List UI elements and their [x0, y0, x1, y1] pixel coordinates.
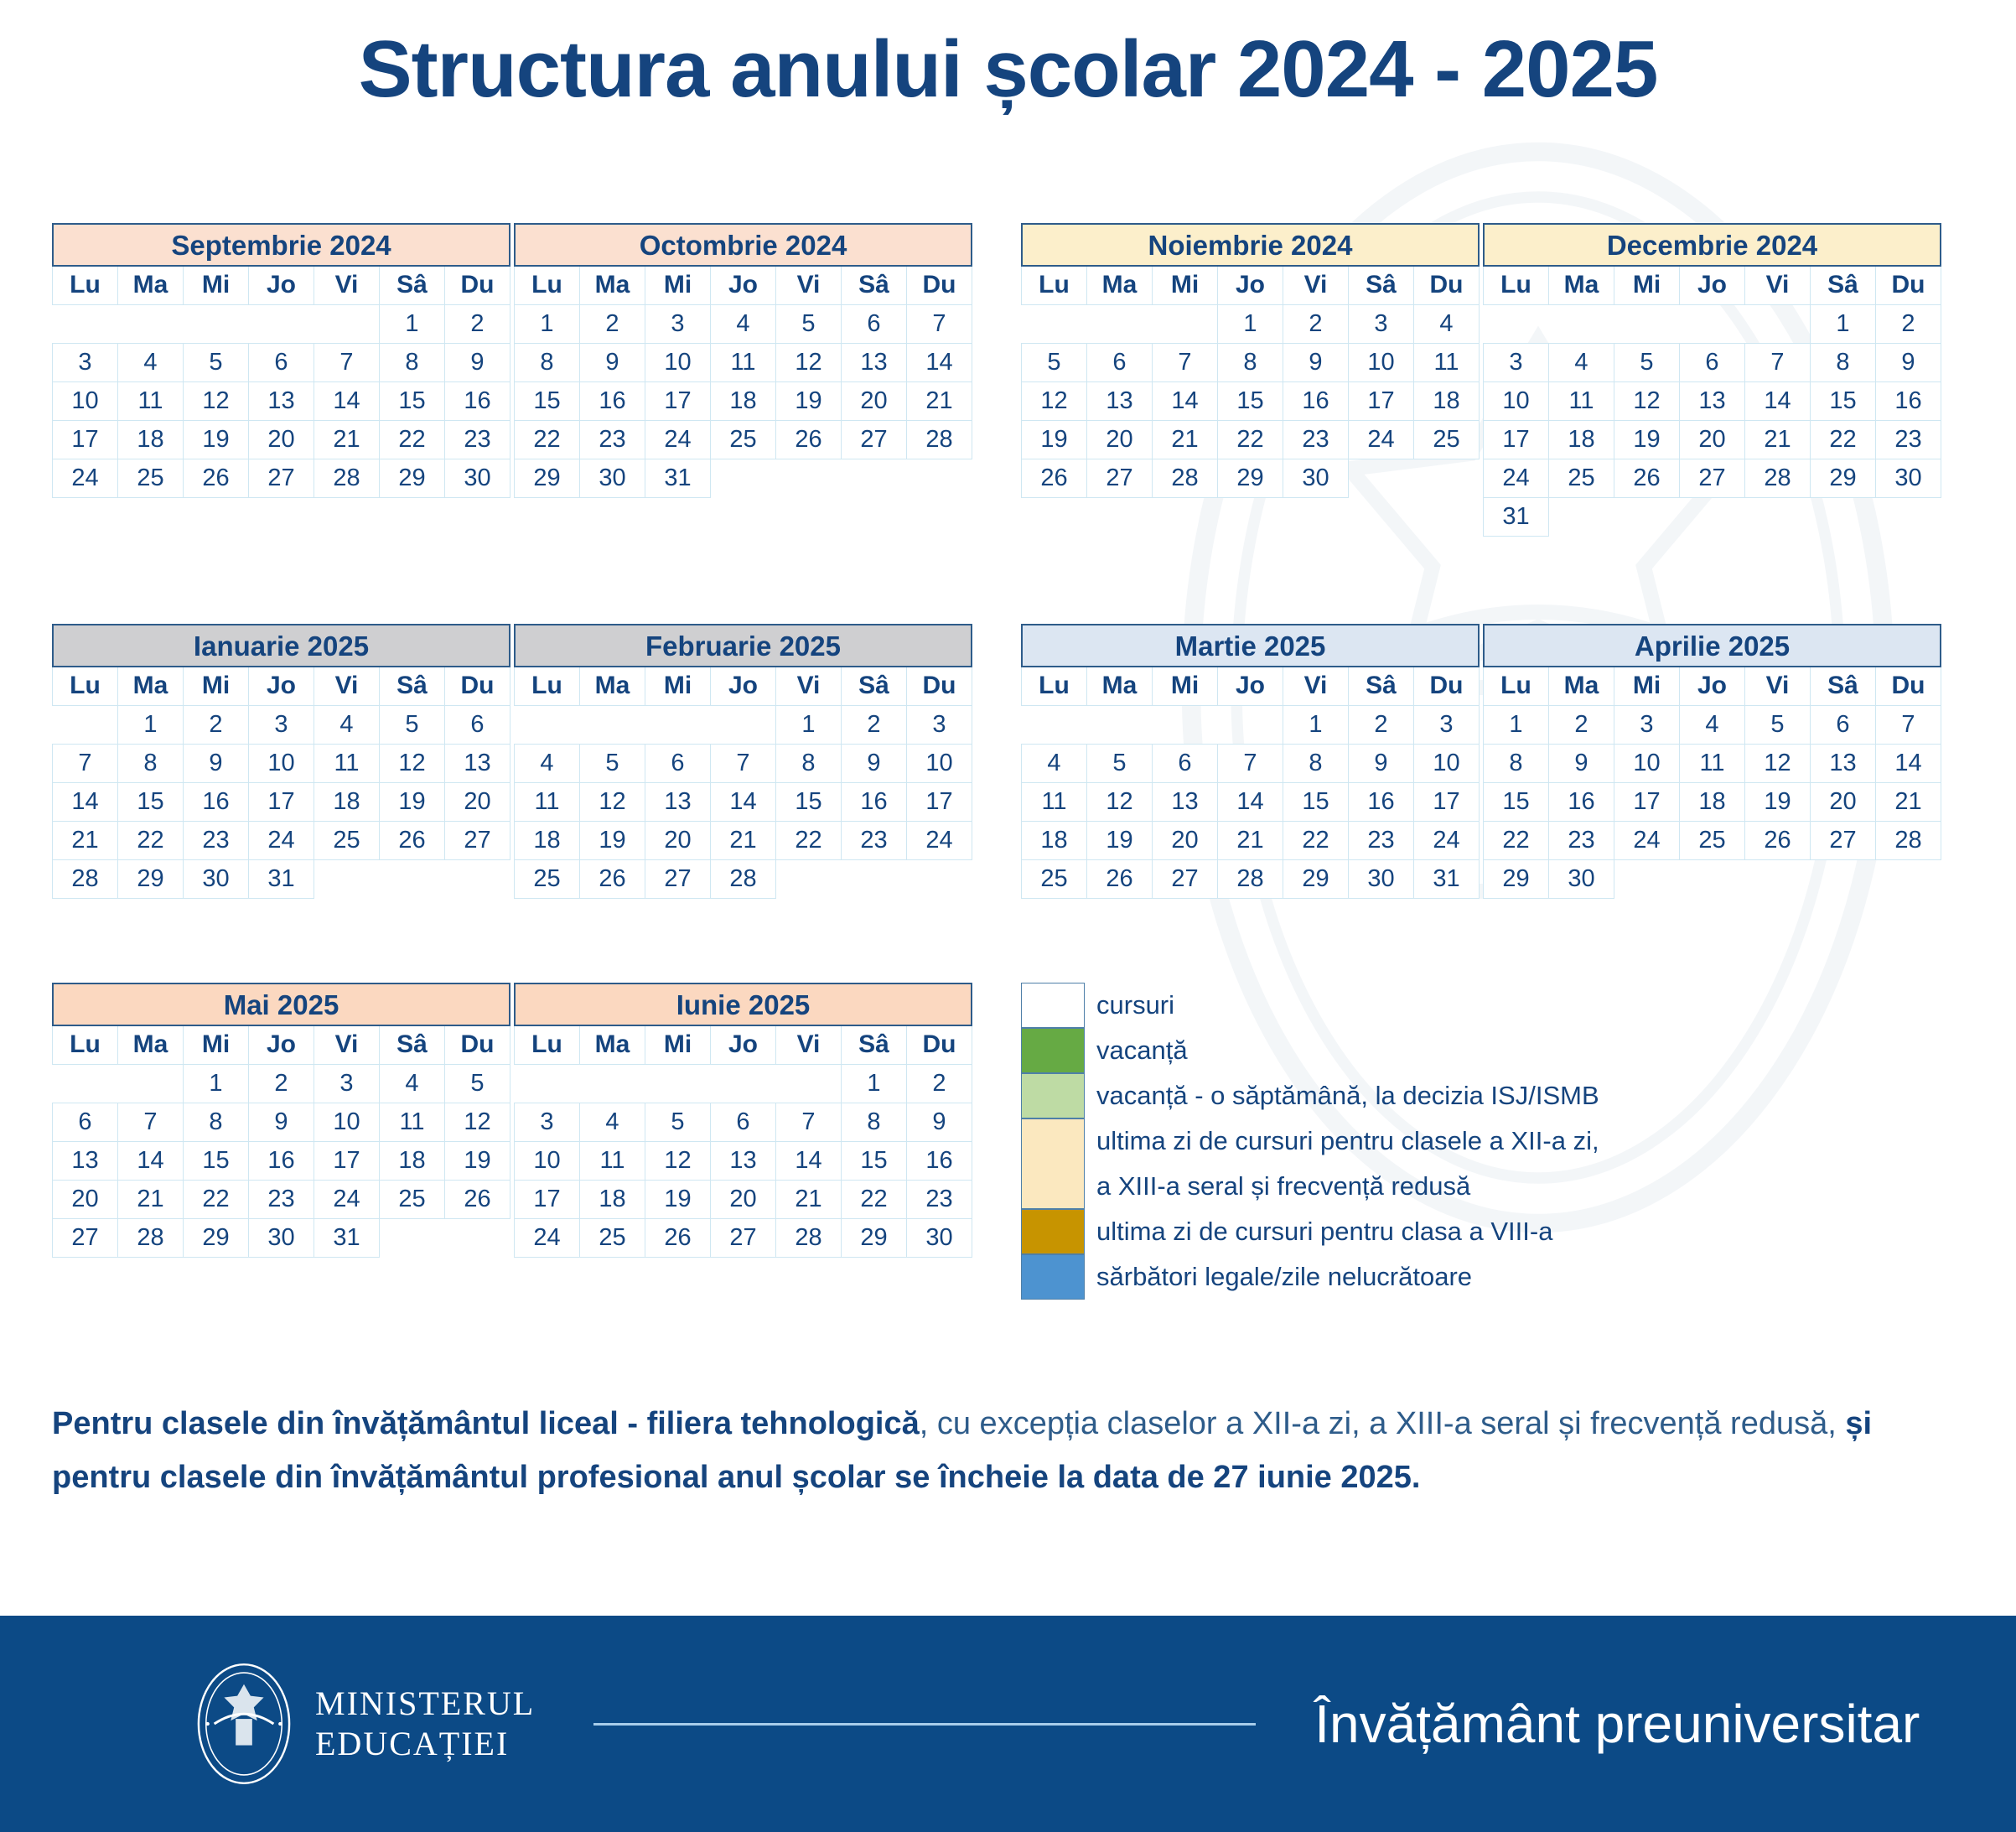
empty-cell — [184, 304, 249, 343]
day-cell: 29 — [1283, 859, 1349, 898]
day-cell: 7 — [1153, 343, 1218, 381]
weekday-header-vi: Vi — [1745, 667, 1811, 705]
empty-cell — [53, 304, 118, 343]
day-cell: 28 — [53, 859, 118, 898]
calendar-pair-nov-dec: Noiembrie 2024 LuMaMiJoViSâDu12345678910… — [1021, 223, 1941, 537]
ministry-line-1: MINISTERUL — [315, 1684, 535, 1724]
day-cell: 18 — [1414, 381, 1480, 420]
empty-cell — [1745, 859, 1811, 898]
day-cell: 15 — [515, 381, 580, 420]
month-title-7: Aprilie 2025 — [1483, 624, 1941, 666]
day-cell: 5 — [580, 744, 645, 782]
day-cell: 4 — [1414, 304, 1480, 343]
day-cell: 6 — [711, 1103, 776, 1141]
day-cell: 4 — [380, 1064, 445, 1103]
day-cell: 11 — [314, 744, 380, 782]
day-cell: 31 — [1414, 859, 1480, 898]
day-cell: 11 — [1022, 782, 1087, 821]
day-cell: 18 — [711, 381, 776, 420]
month-grid-2: LuMaMiJoViSâDu12345678910111213141516171… — [1021, 265, 1480, 498]
day-cell: 23 — [445, 420, 510, 459]
day-cell: 21 — [776, 1180, 842, 1218]
day-cell: 18 — [314, 782, 380, 821]
day-cell: 17 — [907, 782, 972, 821]
day-cell: 2 — [249, 1064, 314, 1103]
day-cell: 3 — [1349, 304, 1414, 343]
day-cell: 23 — [1283, 420, 1349, 459]
day-cell: 20 — [711, 1180, 776, 1218]
day-cell: 1 — [842, 1064, 907, 1103]
day-cell: 24 — [1484, 459, 1549, 497]
week-row: 24252627282930 — [1484, 459, 1941, 497]
legend-row-vac: vacanță — [1021, 1028, 1826, 1073]
weekday-header-mi: Mi — [645, 1025, 711, 1064]
day-cell: 25 — [118, 459, 184, 497]
weekday-header-jo: Jo — [1218, 266, 1283, 304]
weekday-header-sâ: Sâ — [842, 1025, 907, 1064]
calendar-pair-mar-apr: Martie 2025 LuMaMiJoViSâDu12345678910111… — [1021, 624, 1941, 899]
legend-swatch-course — [1021, 983, 1085, 1028]
day-cell: 20 — [1680, 420, 1745, 459]
weekday-header-row: LuMaMiJoViSâDu — [1484, 266, 1941, 304]
day-cell: 30 — [1283, 459, 1349, 497]
day-cell: 8 — [515, 343, 580, 381]
day-cell: 12 — [1022, 381, 1087, 420]
empty-cell — [1087, 705, 1153, 744]
week-row: 19202122232425 — [1022, 420, 1480, 459]
day-cell: 13 — [1087, 381, 1153, 420]
day-cell: 6 — [1811, 705, 1876, 744]
day-cell: 19 — [380, 782, 445, 821]
day-cell: 3 — [515, 1103, 580, 1141]
week-row: 891011121314 — [515, 343, 972, 381]
day-cell: 18 — [580, 1180, 645, 1218]
weekday-header-jo: Jo — [1218, 667, 1283, 705]
day-cell: 12 — [1087, 782, 1153, 821]
day-cell: 21 — [1218, 821, 1283, 859]
day-cell: 4 — [1549, 343, 1614, 381]
weekday-header-row: LuMaMiJoViSâDu — [1022, 667, 1480, 705]
empty-cell — [118, 1064, 184, 1103]
day-cell: 24 — [515, 1218, 580, 1257]
day-cell: 2 — [1283, 304, 1349, 343]
empty-cell — [1745, 497, 1811, 536]
empty-cell — [1876, 497, 1941, 536]
empty-cell — [1614, 304, 1680, 343]
day-cell: 31 — [645, 459, 711, 497]
day-cell: 15 — [1811, 381, 1876, 420]
empty-cell — [445, 859, 510, 898]
day-cell: 11 — [1680, 744, 1745, 782]
empty-cell — [1811, 497, 1876, 536]
day-cell: 25 — [1022, 859, 1087, 898]
empty-cell — [1484, 304, 1549, 343]
day-cell: 21 — [711, 821, 776, 859]
empty-cell — [1414, 459, 1480, 497]
day-cell: 7 — [907, 304, 972, 343]
day-cell: 27 — [1811, 821, 1876, 859]
day-cell: 2 — [1349, 705, 1414, 744]
empty-cell — [1218, 705, 1283, 744]
legend-label-holiday: sărbători legale/zile nelucrătoare — [1096, 1254, 1472, 1300]
weekday-header-jo: Jo — [711, 1025, 776, 1064]
weekday-header-row: LuMaMiJoViSâDu — [515, 1025, 972, 1064]
day-cell: 7 — [53, 744, 118, 782]
day-cell: 20 — [842, 381, 907, 420]
weekday-header-ma: Ma — [580, 266, 645, 304]
weekday-header-du: Du — [445, 266, 510, 304]
day-cell: 30 — [249, 1218, 314, 1257]
week-row: 17181920212223 — [1484, 420, 1941, 459]
weekday-header-jo: Jo — [711, 266, 776, 304]
day-cell: 12 — [184, 381, 249, 420]
day-cell: 21 — [118, 1180, 184, 1218]
month-title-3: Decembrie 2024 — [1483, 223, 1941, 265]
day-cell: 10 — [1484, 381, 1549, 420]
empty-cell — [645, 1064, 711, 1103]
day-cell: 11 — [118, 381, 184, 420]
week-row: 293031 — [515, 459, 972, 497]
weekday-header-ma: Ma — [1087, 667, 1153, 705]
day-cell: 15 — [380, 381, 445, 420]
day-cell: 1 — [184, 1064, 249, 1103]
day-cell: 8 — [1811, 343, 1876, 381]
month-block-7: Aprilie 2025 LuMaMiJoViSâDu1234567891011… — [1483, 624, 1941, 899]
weekday-header-ma: Ma — [580, 1025, 645, 1064]
week-row: 24252627282930 — [53, 459, 510, 497]
day-cell: 18 — [1680, 782, 1745, 821]
day-cell: 26 — [1614, 459, 1680, 497]
week-row: 3456789 — [1484, 343, 1941, 381]
empty-cell — [1745, 304, 1811, 343]
weekday-header-ma: Ma — [118, 667, 184, 705]
month-title-8: Mai 2025 — [52, 983, 510, 1025]
day-cell: 14 — [118, 1141, 184, 1180]
day-cell: 9 — [1349, 744, 1414, 782]
day-cell: 26 — [1022, 459, 1087, 497]
month-block-3: Decembrie 2024 LuMaMiJoViSâDu12345678910… — [1483, 223, 1941, 537]
weekday-header-sâ: Sâ — [380, 1025, 445, 1064]
weekday-header-lu: Lu — [1022, 266, 1087, 304]
week-row: 1234 — [1022, 304, 1480, 343]
legend-label-vac: vacanță — [1096, 1028, 1188, 1073]
legend-row-holiday: sărbători legale/zile nelucrătoare — [1021, 1254, 1826, 1300]
month-block-4: Ianuarie 2025 LuMaMiJoViSâDu123456789101… — [52, 624, 510, 899]
day-cell: 19 — [1022, 420, 1087, 459]
day-cell: 27 — [1087, 459, 1153, 497]
weekday-header-vi: Vi — [314, 266, 380, 304]
week-row: 31 — [1484, 497, 1941, 536]
day-cell: 17 — [314, 1141, 380, 1180]
day-cell: 7 — [1218, 744, 1283, 782]
day-cell: 22 — [776, 821, 842, 859]
week-row: 25262728293031 — [1022, 859, 1480, 898]
day-cell: 16 — [842, 782, 907, 821]
weekday-header-lu: Lu — [1022, 667, 1087, 705]
week-row: 6789101112 — [53, 1103, 510, 1141]
empty-cell — [776, 859, 842, 898]
weekday-header-row: LuMaMiJoViSâDu — [515, 266, 972, 304]
legend-row-last12b: a XIII-a seral și frecvență redusă — [1021, 1164, 1826, 1209]
day-cell: 21 — [1153, 420, 1218, 459]
day-cell: 19 — [1745, 782, 1811, 821]
day-cell: 26 — [645, 1218, 711, 1257]
day-cell: 28 — [1745, 459, 1811, 497]
day-cell: 15 — [118, 782, 184, 821]
empty-cell — [580, 705, 645, 744]
day-cell: 25 — [580, 1218, 645, 1257]
weekday-header-lu: Lu — [515, 667, 580, 705]
week-row: 10111213141516 — [515, 1141, 972, 1180]
legend-label-last8: ultima zi de cursuri pentru clasa a VIII… — [1096, 1209, 1552, 1254]
weekday-header-vi: Vi — [776, 1025, 842, 1064]
day-cell: 28 — [907, 420, 972, 459]
day-cell: 27 — [1680, 459, 1745, 497]
day-cell: 9 — [580, 343, 645, 381]
day-cell: 17 — [249, 782, 314, 821]
weekday-header-lu: Lu — [1484, 667, 1549, 705]
legend-label-course: cursuri — [1096, 983, 1174, 1028]
day-cell: 1 — [380, 304, 445, 343]
calendar-pair-sept-oct: Septembrie 2024 LuMaMiJoViSâDu1234567891… — [52, 223, 972, 498]
legend: cursurivacanțăvacanță - o săptămână, la … — [1021, 983, 1826, 1300]
day-cell: 12 — [1614, 381, 1680, 420]
weekday-header-du: Du — [445, 1025, 510, 1064]
day-cell: 11 — [580, 1141, 645, 1180]
weekday-header-sâ: Sâ — [380, 266, 445, 304]
month-title-4: Ianuarie 2025 — [52, 624, 510, 666]
weekday-header-ma: Ma — [580, 667, 645, 705]
day-cell: 5 — [776, 304, 842, 343]
week-row: 10111213141516 — [53, 381, 510, 420]
month-block-8: Mai 2025 LuMaMiJoViSâDu12345678910111213… — [52, 983, 510, 1258]
empty-cell — [1022, 304, 1087, 343]
day-cell: 31 — [249, 859, 314, 898]
day-cell: 8 — [776, 744, 842, 782]
day-cell: 13 — [1680, 381, 1745, 420]
month-grid-3: LuMaMiJoViSâDu12345678910111213141516171… — [1483, 265, 1941, 537]
month-block-9: Iunie 2025 LuMaMiJoViSâDu123456789101112… — [514, 983, 972, 1258]
week-row: 24252627282930 — [515, 1218, 972, 1257]
week-row: 10111213141516 — [1484, 381, 1941, 420]
day-cell: 20 — [1153, 821, 1218, 859]
week-row: 22232425262728 — [1484, 821, 1941, 859]
empty-cell — [842, 459, 907, 497]
day-cell: 30 — [1349, 859, 1414, 898]
weekday-header-ma: Ma — [118, 266, 184, 304]
day-cell: 21 — [907, 381, 972, 420]
day-cell: 8 — [184, 1103, 249, 1141]
day-cell: 18 — [118, 420, 184, 459]
day-cell: 23 — [580, 420, 645, 459]
day-cell: 24 — [1614, 821, 1680, 859]
day-cell: 10 — [53, 381, 118, 420]
empty-cell — [1614, 497, 1680, 536]
weekday-header-sâ: Sâ — [1811, 667, 1876, 705]
footer-divider — [593, 1723, 1256, 1726]
week-row: 45678910 — [1022, 744, 1480, 782]
day-cell: 2 — [1549, 705, 1614, 744]
ministry-line-2: EDUCAȚIEI — [315, 1724, 535, 1764]
weekday-header-ma: Ma — [1087, 266, 1153, 304]
weekday-header-mi: Mi — [184, 266, 249, 304]
day-cell: 28 — [1876, 821, 1941, 859]
ministry-name: MINISTERUL EDUCAȚIEI — [315, 1684, 535, 1764]
legend-swatch-last8 — [1021, 1209, 1085, 1254]
note-regular: , cu excepția claselor a XII-a zi, a XII… — [920, 1406, 1837, 1441]
month-grid-4: LuMaMiJoViSâDu12345678910111213141516171… — [52, 666, 510, 899]
day-cell: 16 — [907, 1141, 972, 1180]
empty-cell — [1349, 459, 1414, 497]
day-cell: 1 — [1811, 304, 1876, 343]
weekday-header-du: Du — [1876, 266, 1941, 304]
day-cell: 13 — [1811, 744, 1876, 782]
day-cell: 30 — [580, 459, 645, 497]
empty-cell — [515, 705, 580, 744]
day-cell: 22 — [184, 1180, 249, 1218]
day-cell: 12 — [1745, 744, 1811, 782]
empty-cell — [445, 1218, 510, 1257]
empty-cell — [380, 1218, 445, 1257]
empty-cell — [907, 859, 972, 898]
month-title-0: Septembrie 2024 — [52, 223, 510, 265]
week-row: 123 — [1022, 705, 1480, 744]
day-cell: 17 — [1614, 782, 1680, 821]
day-cell: 15 — [1484, 782, 1549, 821]
day-cell: 6 — [645, 744, 711, 782]
weekday-header-vi: Vi — [1283, 667, 1349, 705]
week-row: 78910111213 — [53, 744, 510, 782]
weekday-header-du: Du — [1414, 266, 1480, 304]
week-row: 123 — [515, 705, 972, 744]
day-cell: 2 — [580, 304, 645, 343]
day-cell: 15 — [184, 1141, 249, 1180]
day-cell: 18 — [1549, 420, 1614, 459]
day-cell: 1 — [118, 705, 184, 744]
day-cell: 4 — [1680, 705, 1745, 744]
weekday-header-vi: Vi — [776, 667, 842, 705]
day-cell: 19 — [776, 381, 842, 420]
week-row: 1234567 — [515, 304, 972, 343]
note-paragraph: Pentru clasele din învățământul liceal -… — [52, 1397, 1972, 1504]
day-cell: 7 — [314, 343, 380, 381]
day-cell: 13 — [249, 381, 314, 420]
day-cell: 27 — [445, 821, 510, 859]
day-cell: 6 — [842, 304, 907, 343]
empty-cell — [1153, 705, 1218, 744]
day-cell: 11 — [515, 782, 580, 821]
empty-cell — [776, 459, 842, 497]
day-cell: 29 — [1484, 859, 1549, 898]
empty-cell — [249, 304, 314, 343]
day-cell: 25 — [1549, 459, 1614, 497]
day-cell: 19 — [1614, 420, 1680, 459]
day-cell: 30 — [184, 859, 249, 898]
month-grid-5: LuMaMiJoViSâDu12345678910111213141516171… — [514, 666, 972, 899]
day-cell: 15 — [1283, 782, 1349, 821]
day-cell: 13 — [645, 782, 711, 821]
week-row: 12 — [53, 304, 510, 343]
day-cell: 19 — [184, 420, 249, 459]
day-cell: 14 — [1218, 782, 1283, 821]
day-cell: 8 — [380, 343, 445, 381]
day-cell: 12 — [445, 1103, 510, 1141]
day-cell: 10 — [645, 343, 711, 381]
day-cell: 3 — [645, 304, 711, 343]
legend-row-last8: ultima zi de cursuri pentru clasa a VIII… — [1021, 1209, 1826, 1254]
month-block-5: Februarie 2025 LuMaMiJoViSâDu12345678910… — [514, 624, 972, 899]
weekday-header-sâ: Sâ — [1349, 667, 1414, 705]
weekday-header-mi: Mi — [1614, 266, 1680, 304]
day-cell: 25 — [1680, 821, 1745, 859]
day-cell: 27 — [842, 420, 907, 459]
day-cell: 5 — [645, 1103, 711, 1141]
day-cell: 22 — [380, 420, 445, 459]
empty-cell — [1876, 859, 1941, 898]
day-cell: 3 — [249, 705, 314, 744]
day-cell: 16 — [1283, 381, 1349, 420]
day-cell: 13 — [1153, 782, 1218, 821]
day-cell: 23 — [842, 821, 907, 859]
weekday-header-vi: Vi — [314, 667, 380, 705]
empty-cell — [53, 705, 118, 744]
day-cell: 27 — [53, 1218, 118, 1257]
day-cell: 21 — [1876, 782, 1941, 821]
weekday-header-sâ: Sâ — [842, 667, 907, 705]
page-title: Structura anului școlar 2024 - 2025 — [0, 23, 2016, 116]
day-cell: 1 — [1484, 705, 1549, 744]
day-cell: 21 — [1745, 420, 1811, 459]
day-cell: 18 — [1022, 821, 1087, 859]
empty-cell — [1811, 859, 1876, 898]
week-row: 12131415161718 — [1022, 381, 1480, 420]
day-cell: 23 — [1549, 821, 1614, 859]
weekday-header-vi: Vi — [314, 1025, 380, 1064]
day-cell: 2 — [907, 1064, 972, 1103]
weekday-header-du: Du — [907, 667, 972, 705]
weekday-header-mi: Mi — [184, 1025, 249, 1064]
day-cell: 9 — [249, 1103, 314, 1141]
day-cell: 11 — [1549, 381, 1614, 420]
day-cell: 17 — [1349, 381, 1414, 420]
day-cell: 1 — [1218, 304, 1283, 343]
day-cell: 24 — [249, 821, 314, 859]
legend-label-last12a: ultima zi de cursuri pentru clasele a XI… — [1096, 1118, 1599, 1164]
day-cell: 14 — [776, 1141, 842, 1180]
empty-cell — [380, 859, 445, 898]
day-cell: 6 — [1680, 343, 1745, 381]
week-row: 20212223242526 — [53, 1180, 510, 1218]
day-cell: 9 — [907, 1103, 972, 1141]
day-cell: 13 — [711, 1141, 776, 1180]
month-title-9: Iunie 2025 — [514, 983, 972, 1025]
week-row: 12 — [515, 1064, 972, 1103]
day-cell: 4 — [118, 343, 184, 381]
day-cell: 23 — [184, 821, 249, 859]
day-cell: 16 — [184, 782, 249, 821]
day-cell: 4 — [580, 1103, 645, 1141]
day-cell: 28 — [1153, 459, 1218, 497]
month-grid-7: LuMaMiJoViSâDu12345678910111213141516171… — [1483, 666, 1941, 899]
day-cell: 3 — [53, 343, 118, 381]
day-cell: 9 — [1549, 744, 1614, 782]
day-cell: 9 — [1283, 343, 1349, 381]
day-cell: 3 — [1414, 705, 1480, 744]
weekday-header-mi: Mi — [645, 667, 711, 705]
empty-cell — [118, 304, 184, 343]
legend-label-last12b: a XIII-a seral și frecvență redusă — [1096, 1164, 1470, 1209]
week-row: 11121314151617 — [515, 782, 972, 821]
